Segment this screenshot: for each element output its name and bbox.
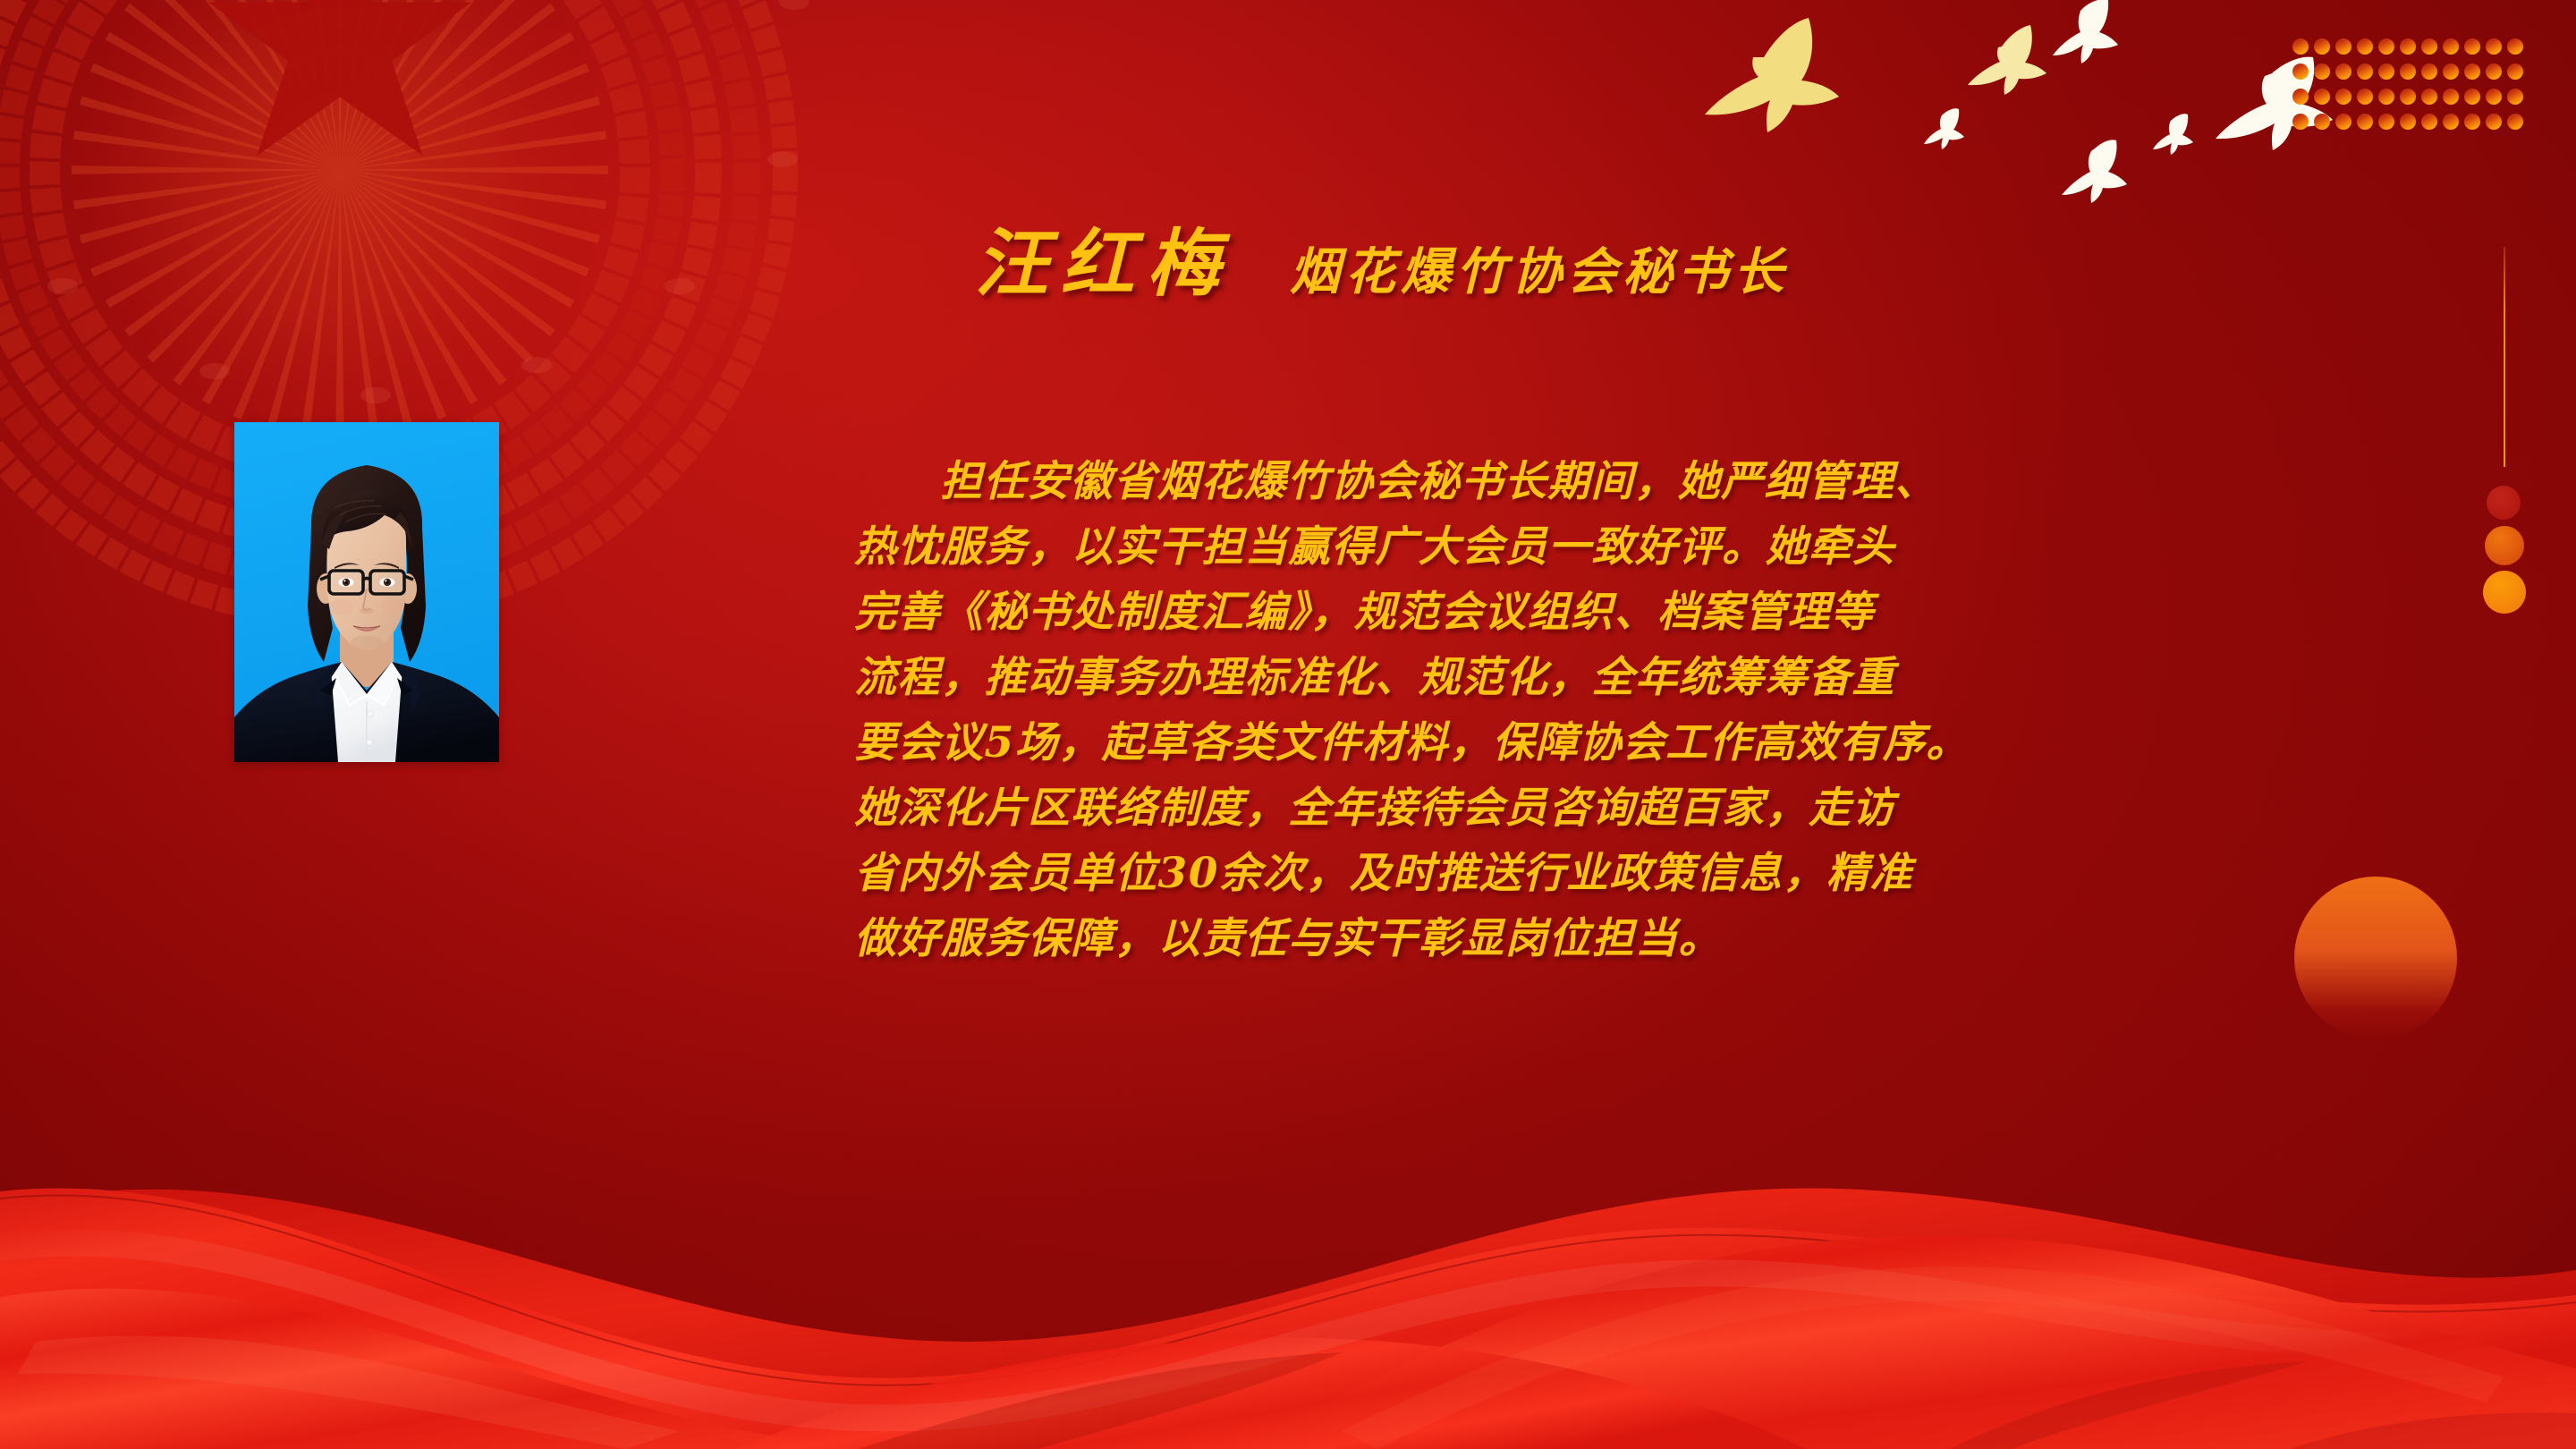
accent-dot-dark xyxy=(2487,486,2521,520)
dove-icon xyxy=(1924,108,1964,149)
bio-line: 要会议5场，起草各类文件材料，保障协会工作高效有序。 xyxy=(854,710,2339,775)
person-name: 汪红梅 xyxy=(975,204,1233,310)
bio-line: 她深化片区联络制度，全年接待会员咨询超百家，走访 xyxy=(854,775,2339,841)
accent-dot-mid xyxy=(2485,526,2524,565)
bio-line: 担任安徽省烟花爆竹协会秘书长期间，她严细管理、 xyxy=(854,449,2339,514)
bio-line: 热忱服务，以实干担当赢得广大会员一致好评。她牵头 xyxy=(854,514,2339,580)
red-silk-ribbon-waves xyxy=(0,1073,2576,1449)
bio-line: 省内外会员单位30余次，及时推送行业政策信息，精准 xyxy=(854,841,2339,906)
dove-icon xyxy=(1705,18,1839,132)
bio-text-block: 担任安徽省烟花爆竹协会秘书长期间，她严细管理、 热忱服务，以实干担当赢得广大会员… xyxy=(854,449,2339,971)
accent-dot-bright xyxy=(2483,571,2526,614)
bio-line: 流程，推动事务办理标准化、规范化，全年统筹筹备重 xyxy=(854,645,2339,710)
dove-icon xyxy=(1968,25,2046,95)
flying-doves xyxy=(1682,0,2379,229)
dove-icon xyxy=(2062,140,2127,203)
header-name-row: 汪红梅 烟花爆竹协会秘书长 xyxy=(975,204,1789,310)
dove-icon xyxy=(2153,114,2193,155)
orange-dot-grid xyxy=(2290,36,2531,132)
bio-line: 完善《秘书处制度汇编》，规范会议组织、档案管理等 xyxy=(854,580,2339,645)
portrait-photo xyxy=(234,422,499,762)
slide-canvas: 汪红梅 烟花爆竹协会秘书长 担任安徽省烟花爆竹协会秘书长期间，她严细管理、 热忱… xyxy=(0,0,2576,1449)
orange-vertical-line xyxy=(2504,247,2505,467)
bio-line: 做好服务保障，以责任与实干彰显岗位担当。 xyxy=(854,906,2339,971)
person-title: 烟花爆竹协会秘书长 xyxy=(1290,232,1789,304)
dove-icon xyxy=(2053,0,2118,64)
